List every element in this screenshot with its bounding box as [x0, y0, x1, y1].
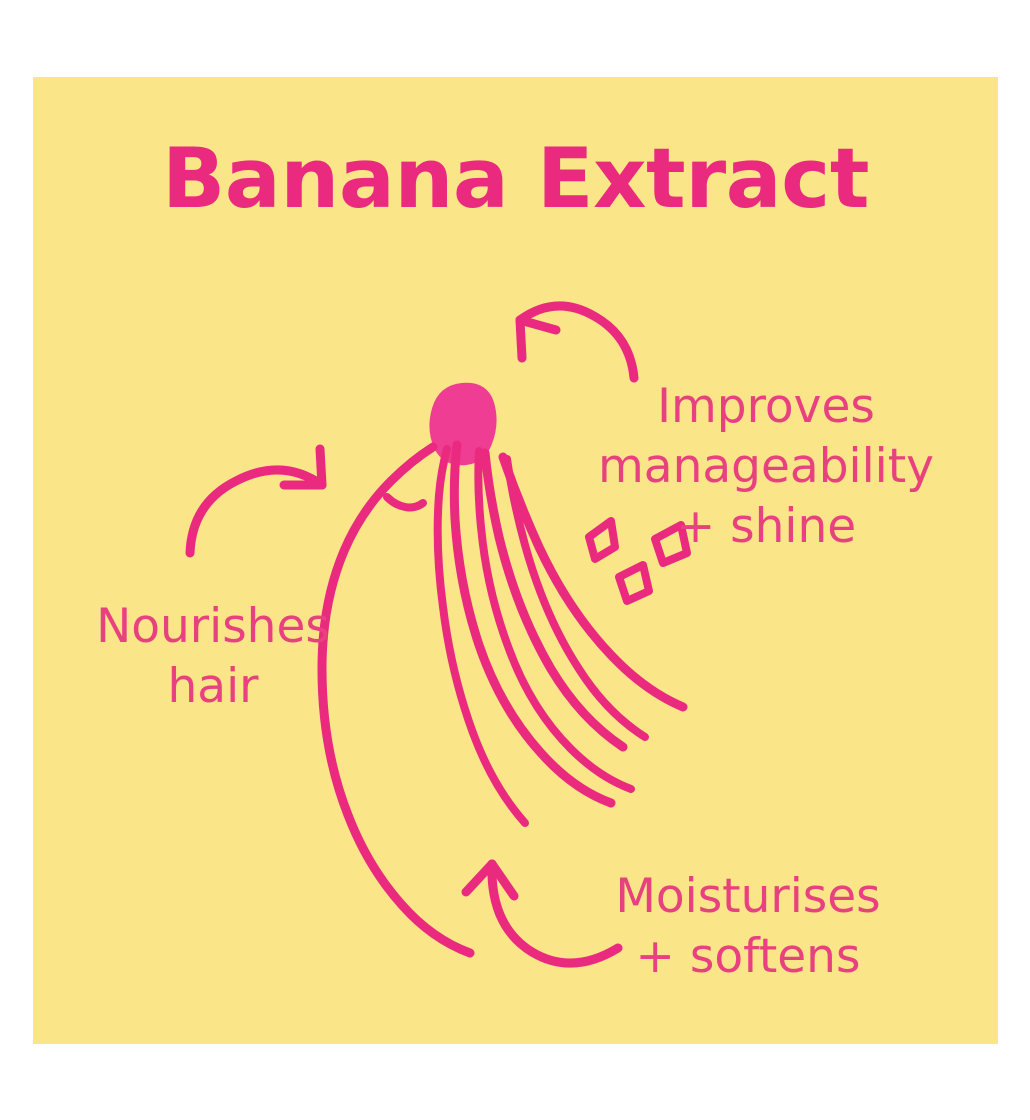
infographic-root: Banana Extract: [0, 0, 1030, 1120]
banana-stem-icon: [433, 387, 492, 461]
annotation-moisturises-line-1: Moisturises: [588, 867, 908, 927]
annotation-moisturises-line-2: + softens: [588, 927, 908, 987]
infographic-card: Banana Extract: [33, 77, 998, 1044]
annotation-nourishes-line-1: Nourishes: [63, 597, 363, 657]
arrow-to-improves-icon: [520, 306, 634, 378]
banana-shoulder-nub: [387, 497, 423, 508]
annotation-improves-line-2: manageability: [596, 437, 936, 497]
arrow-to-nourishes-icon: [190, 449, 322, 553]
annotation-improves-line-3: + shine: [596, 497, 936, 557]
annotation-moisturises: Moisturises + softens: [588, 867, 908, 987]
banana-tip-lower: [619, 565, 649, 601]
banana-outline-second-top: [454, 445, 611, 803]
banana-outline-back-inner: [438, 449, 525, 823]
annotation-improves: Improves manageability + shine: [596, 377, 936, 557]
page-title: Banana Extract: [33, 137, 998, 220]
annotation-improves-line-1: Improves: [596, 377, 936, 437]
annotation-nourishes: Nourishes hair: [63, 597, 363, 717]
annotation-nourishes-line-2: hair: [63, 657, 363, 717]
